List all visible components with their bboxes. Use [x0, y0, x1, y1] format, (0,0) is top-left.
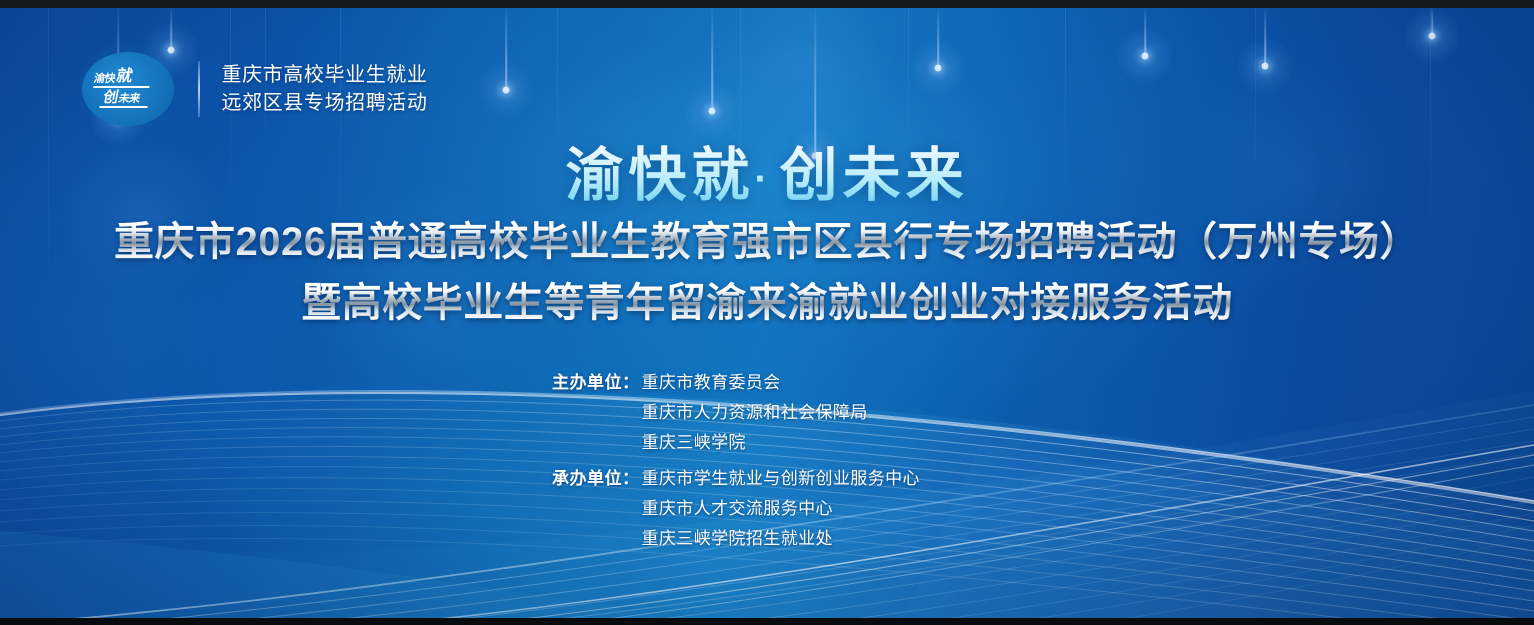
- host-label: 主办单位：: [552, 368, 640, 398]
- logo-text-line1-big: 就: [115, 69, 134, 85]
- logo-badge: 渝快 就 创 未来: [82, 52, 174, 126]
- host-list: 重庆市教育委员会 重庆市人力资源和社会保障局 重庆三峡学院: [642, 368, 868, 458]
- coorganizer-item: 重庆市学生就业与创新创业服务中心: [642, 464, 920, 494]
- header-title-block: 重庆市高校毕业生就业 远郊区县专场招聘活动: [222, 61, 428, 118]
- logo-text-line1-small: 渝快: [93, 74, 116, 85]
- host-group: 主办单位： 重庆市教育委员会 重庆市人力资源和社会保障局 重庆三峡学院: [552, 368, 982, 458]
- coorganizer-label: 承办单位：: [552, 464, 640, 494]
- host-item: 重庆市教育委员会: [642, 368, 868, 398]
- event-headline: 重庆市2026届普通高校毕业生教育强市区县行专场招聘活动（万州专场） 暨高校毕业…: [0, 214, 1534, 332]
- host-item: 重庆三峡学院: [642, 428, 868, 458]
- headline-line-2: 暨高校毕业生等青年留渝来渝就业创业对接服务活动: [0, 275, 1534, 332]
- bottom-frame-bar: [0, 618, 1534, 625]
- logo-underline-1: [93, 86, 149, 88]
- headline-line-1: 重庆市2026届普通高校毕业生教育强市区县行专场招聘活动（万州专场）: [0, 214, 1534, 271]
- organizer-block: 主办单位： 重庆市教育委员会 重庆市人力资源和社会保障局 重庆三峡学院 承办单位…: [0, 368, 1534, 554]
- event-slogan: 渝快就·创未来: [0, 128, 1534, 212]
- header-title-line-1: 重庆市高校毕业生就业: [222, 61, 428, 89]
- logo-text-line2-small: 未来: [117, 94, 140, 105]
- slogan-separator: ·: [754, 157, 779, 201]
- logo-wordmark-icon: 渝快 就 创 未来: [86, 65, 169, 113]
- top-frame-bar: [0, 0, 1534, 8]
- coorganizer-list: 重庆市学生就业与创新创业服务中心 重庆市人才交流服务中心 重庆三峡学院招生就业处: [642, 464, 920, 554]
- coorganizer-item: 重庆市人才交流服务中心: [642, 494, 920, 524]
- header-divider: [198, 61, 200, 117]
- brand-header: 渝快 就 创 未来 重庆市高校毕业生就业 远郊区县专场招聘活动: [82, 52, 428, 126]
- coorganizer-group: 承办单位： 重庆市学生就业与创新创业服务中心 重庆市人才交流服务中心 重庆三峡学…: [552, 464, 982, 554]
- slogan-left: 渝快就: [565, 143, 754, 208]
- logo-underline-2: [99, 106, 147, 108]
- slogan-right: 创未来: [780, 143, 969, 208]
- header-title-line-2: 远郊区县专场招聘活动: [222, 89, 428, 117]
- host-item: 重庆市人力资源和社会保障局: [642, 398, 868, 428]
- coorganizer-item: 重庆三峡学院招生就业处: [642, 524, 920, 554]
- poster-canvas: 渝快 就 创 未来 重庆市高校毕业生就业 远郊区县专场招聘活动 渝快就·创未来 …: [0, 0, 1534, 625]
